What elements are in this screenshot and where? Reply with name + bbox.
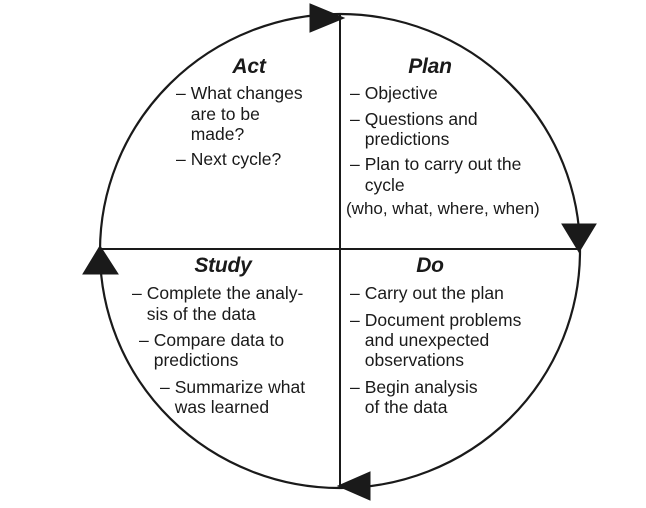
quadrant-do-title: Do: [350, 255, 510, 277]
bullet-dash-icon: –: [350, 154, 365, 195]
arrow-right-icon: [562, 224, 596, 252]
arrow-top-icon: [310, 4, 344, 32]
bullet-text: Carry out the plan: [365, 283, 555, 303]
bullet-text: Document problems and unexpected observa…: [365, 310, 555, 371]
bullet-dash-icon: –: [160, 377, 175, 418]
quadrant-study-bullets: – Complete the analy- sis of the data – …: [112, 283, 334, 418]
list-item: – Plan to carry out the cycle: [350, 154, 555, 195]
list-item: – Document problems and unexpected obser…: [350, 310, 555, 371]
quadrant-plan-bullets: – Objective – Questions and predictions …: [350, 83, 555, 195]
quadrant-study: Study – Complete the analy- sis of the d…: [112, 255, 334, 424]
list-item: – Objective: [350, 83, 555, 103]
quadrant-do-bullets: – Carry out the plan – Document problems…: [350, 283, 555, 418]
list-item: – What changes are to be made?: [176, 83, 328, 144]
list-item: – Complete the analy- sis of the data: [132, 283, 334, 324]
quadrant-study-title: Study: [112, 255, 334, 277]
bullet-text: Summarize what was learned: [175, 377, 334, 418]
bullet-text: Questions and predictions: [365, 109, 555, 150]
list-item: – Compare data to predictions: [139, 330, 334, 371]
pdsa-cycle-diagram: Act – What changes are to be made? – Nex…: [0, 0, 646, 508]
bullet-text: Compare data to predictions: [154, 330, 334, 371]
quadrant-plan-note: (who, what, where, when): [346, 199, 555, 219]
quadrant-act-title: Act: [176, 56, 322, 78]
bullet-dash-icon: –: [350, 310, 365, 371]
bullet-text: Plan to carry out the cycle: [365, 154, 555, 195]
bullet-text: Begin analysis of the data: [365, 377, 555, 418]
bullet-dash-icon: –: [350, 109, 365, 150]
bullet-dash-icon: –: [176, 83, 191, 144]
bullet-text: What changes are to be made?: [191, 83, 328, 144]
bullet-dash-icon: –: [350, 83, 365, 103]
quadrant-do: Do – Carry out the plan – Document probl…: [350, 255, 555, 424]
bullet-dash-icon: –: [350, 377, 365, 418]
list-item: – Carry out the plan: [350, 283, 555, 303]
quadrant-plan-title: Plan: [350, 56, 510, 78]
bullet-dash-icon: –: [139, 330, 154, 371]
list-item: – Next cycle?: [176, 149, 328, 169]
bullet-dash-icon: –: [350, 283, 365, 303]
arrow-bottom-icon: [338, 472, 370, 500]
quadrant-plan: Plan – Objective – Questions and predict…: [350, 56, 555, 219]
quadrant-act-bullets: – What changes are to be made? – Next cy…: [176, 83, 328, 170]
bullet-dash-icon: –: [132, 283, 147, 324]
bullet-text: Objective: [365, 83, 555, 103]
bullet-dash-icon: –: [176, 149, 191, 169]
bullet-text: Complete the analy- sis of the data: [147, 283, 334, 324]
list-item: – Begin analysis of the data: [350, 377, 555, 418]
bullet-text: Next cycle?: [191, 149, 328, 169]
list-item: – Questions and predictions: [350, 109, 555, 150]
quadrant-act: Act – What changes are to be made? – Nex…: [176, 56, 328, 175]
list-item: – Summarize what was learned: [160, 377, 334, 418]
